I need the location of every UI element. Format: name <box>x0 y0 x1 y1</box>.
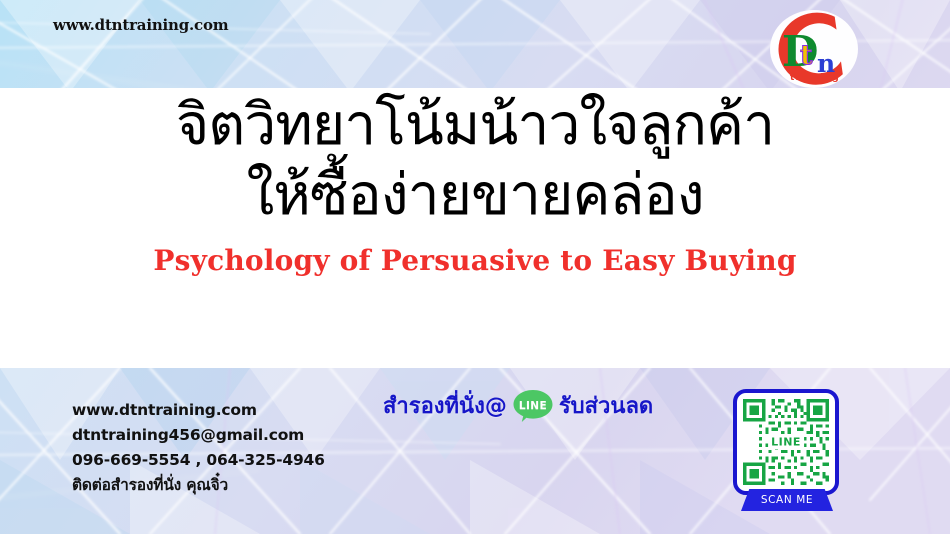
contact-phones: 096-669-5554 , 064-325-4946 <box>72 448 325 473</box>
contact-email: dtntraining456@gmail.com <box>72 423 325 448</box>
svg-text:LINE: LINE <box>519 400 547 412</box>
scan-me-ribbon[interactable]: SCAN ME <box>741 489 833 511</box>
header-website: www.dtntraining.com <box>53 16 228 34</box>
reserve-line-row: สำรองที่นั่ง@ LINE รับส่วนลด <box>383 388 653 423</box>
contact-block: www.dtntraining.com dtntraining456@gmail… <box>72 398 325 498</box>
qr-code-block[interactable]: LINE SCAN ME <box>733 389 843 495</box>
headline-group: จิตวิทยาโน้มน้าวใจลูกค้า ให้ซื้อง่ายขายค… <box>0 96 950 277</box>
qr-code-card[interactable]: LINE <box>733 389 839 495</box>
poster-canvas: www.dtntraining.com D t t n training จิต… <box>0 0 950 534</box>
svg-text:t: t <box>800 40 813 71</box>
qr-center-label: LINE <box>768 435 804 450</box>
headline-thai-line2: ให้ซื้อง่ายขายคล่อง <box>0 166 950 224</box>
logo-tagline: training <box>790 73 840 83</box>
dtn-training-logo: D t t n training <box>762 8 867 90</box>
contact-website: www.dtntraining.com <box>72 398 325 423</box>
contact-note: ติดต่อสำรองที่นั่ง คุณจิ๋ว <box>72 473 325 498</box>
headline-english-subtitle: Psychology of Persuasive to Easy Buying <box>0 244 950 277</box>
reserve-prefix-text: สำรองที่นั่ง@ <box>383 388 507 423</box>
headline-thai-line1: จิตวิทยาโน้มน้าวใจลูกค้า <box>0 96 950 154</box>
reserve-suffix-text: รับส่วนลด <box>559 388 653 423</box>
line-app-icon[interactable]: LINE <box>512 389 554 423</box>
